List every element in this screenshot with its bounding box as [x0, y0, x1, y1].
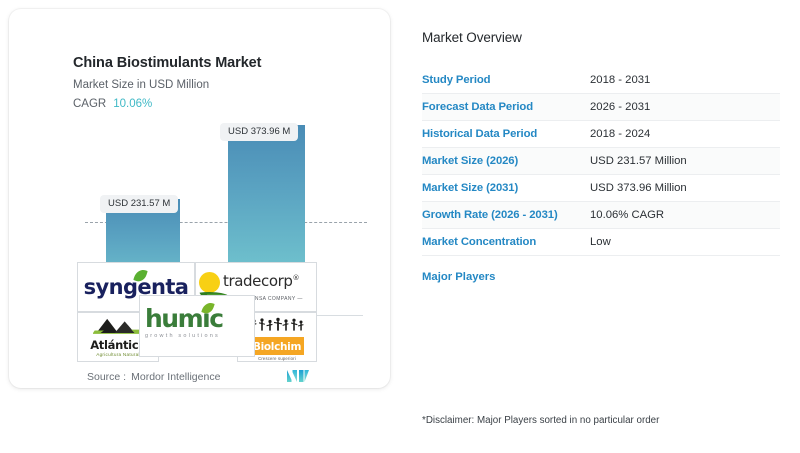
cagr-value: 10.06%: [113, 98, 152, 110]
row-key: Market Concentration: [422, 236, 590, 248]
registered-mark-icon: ®: [293, 274, 300, 282]
row-value: 10.06% CAGR: [590, 209, 664, 221]
people-icon: [248, 317, 306, 331]
table-row: Market Concentration Low: [422, 229, 780, 256]
row-value: 2018 - 2031: [590, 74, 650, 86]
source-name: Mordor Intelligence: [131, 371, 220, 383]
biolchim-name-plate: Biolchim: [250, 337, 304, 355]
row-key: Study Period: [422, 74, 590, 86]
row-value: Low: [590, 236, 611, 248]
row-value: USD 231.57 Million: [590, 155, 687, 167]
players-disclaimer: *Disclaimer: Major Players sorted in no …: [422, 415, 659, 426]
table-row: Growth Rate (2026 - 2031) 10.06% CAGR: [422, 202, 780, 229]
major-players-logo-grid: syngenta tradecorp® — A ROVENSA COMPANY …: [77, 262, 317, 362]
market-overview-title: Market Overview: [422, 30, 784, 45]
table-row: Study Period 2018 - 2031: [422, 67, 780, 94]
row-key: Historical Data Period: [422, 128, 590, 140]
bar-value-label-2031: USD 373.96 M: [220, 123, 298, 141]
major-players-label: Major Players: [422, 271, 784, 283]
row-value: 2026 - 2031: [590, 101, 650, 113]
sun-icon: [199, 272, 220, 293]
row-key: Market Size (2031): [422, 182, 590, 194]
market-overview-panel: Market Overview Study Period 2018 - 2031…: [422, 30, 784, 283]
tradecorp-word-text: tradecorp: [223, 272, 293, 290]
market-snapshot-page: China Biostimulants Market Market Size i…: [0, 0, 800, 453]
tradecorp-wordmark: tradecorp®: [223, 272, 299, 290]
row-key: Forecast Data Period: [422, 101, 590, 113]
biolchim-tagline: Crescere superiori: [246, 356, 308, 361]
source-row: Source : Mordor Intelligence: [87, 371, 220, 383]
table-row: Forecast Data Period 2026 - 2031: [422, 94, 780, 121]
market-overview-table: Study Period 2018 - 2031 Forecast Data P…: [422, 67, 780, 256]
source-prefix: Source :: [87, 371, 126, 383]
logo-cell-humic: humic growth solutions: [139, 295, 255, 357]
table-row: Market Size (2031) USD 373.96 Million: [422, 175, 780, 202]
mountains-icon: [93, 317, 143, 334]
chart-title: China Biostimulants Market: [73, 55, 261, 71]
cagr-label: CAGR: [73, 98, 106, 110]
mordor-intelligence-logo: [286, 369, 312, 383]
humic-logo: humic growth solutions: [145, 306, 249, 346]
table-row: Historical Data Period 2018 - 2024: [422, 121, 780, 148]
chart-subtitle: Market Size in USD Million: [73, 79, 209, 91]
biolchim-wordmark: Biolchim: [253, 341, 301, 353]
table-row: Market Size (2026) USD 231.57 Million: [422, 148, 780, 175]
bar-value-label-2026: USD 231.57 M: [100, 195, 178, 213]
biolchim-logo: Biolchim Crescere superiori: [246, 317, 308, 357]
humic-tagline: growth solutions: [145, 333, 249, 339]
row-key: Market Size (2026): [422, 155, 590, 167]
row-value: USD 373.96 Million: [590, 182, 687, 194]
row-key: Growth Rate (2026 - 2031): [422, 209, 590, 221]
row-value: 2018 - 2024: [590, 128, 650, 140]
cagr-row: CAGR 10.06%: [73, 98, 152, 110]
